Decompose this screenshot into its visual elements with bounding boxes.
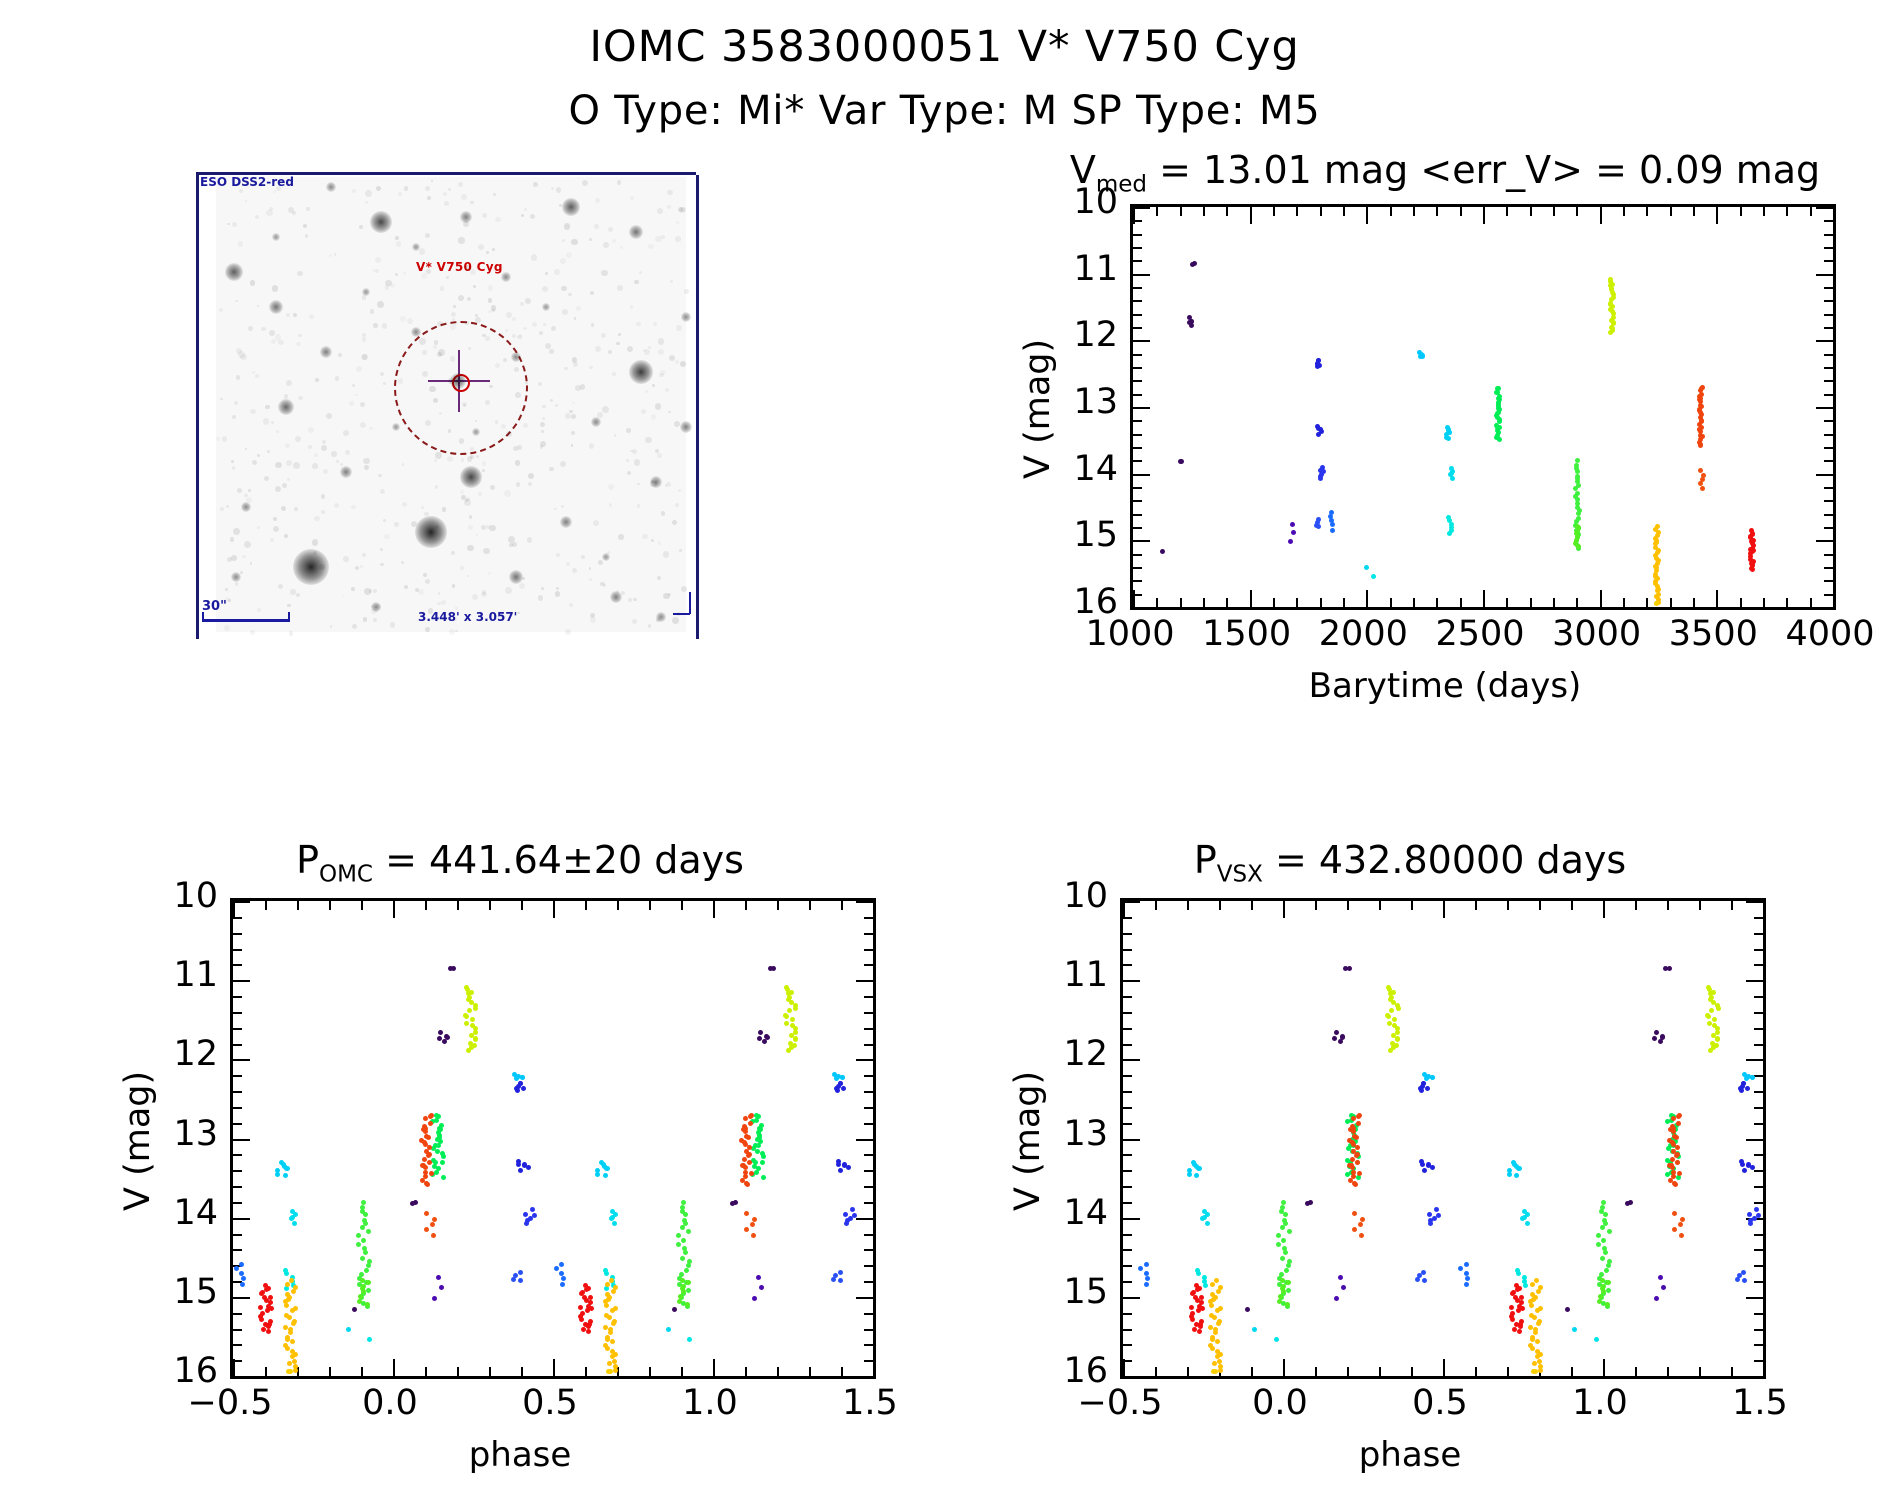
sky-noise-speckle	[667, 205, 670, 208]
axis-tick	[1824, 594, 1833, 596]
data-point	[1356, 1114, 1361, 1119]
axis-tick	[233, 980, 250, 982]
axis-tick	[233, 1249, 242, 1251]
sky-noise-speckle	[590, 617, 596, 623]
sky-noise-speckle	[565, 413, 571, 419]
data-point	[838, 1168, 843, 1173]
data-point	[1679, 1233, 1684, 1238]
sky-noise-speckle	[513, 446, 518, 451]
sky-noise-speckle	[342, 595, 344, 597]
data-point	[1510, 1317, 1515, 1322]
sky-noise-speckle	[576, 306, 580, 310]
axis-tick	[649, 1367, 651, 1376]
axis-tick	[1443, 901, 1445, 918]
data-point	[751, 1233, 756, 1238]
data-point	[234, 1266, 239, 1271]
sky-noise-speckle	[598, 560, 603, 565]
phase-omc-panel[interactable]: POMC = 441.64±20 days V (mag) phase 1011…	[120, 838, 920, 1458]
axis-tick	[1436, 598, 1438, 607]
sky-noise-speckle	[589, 567, 592, 570]
lightcurve-title-rest: = 13.01 mag <err_V> = 0.09 mag	[1147, 148, 1820, 192]
axis-tick	[777, 1367, 779, 1376]
axis-tick	[1754, 1186, 1763, 1188]
data-point	[1607, 1229, 1612, 1234]
sky-noise-speckle	[230, 537, 234, 541]
sky-noise-speckle	[404, 585, 408, 589]
sky-noise-speckle	[473, 285, 476, 288]
sky-noise-speckle	[419, 338, 426, 345]
sky-noise-speckle	[532, 322, 537, 327]
sky-noise-speckle	[470, 269, 476, 275]
axis-tick	[1251, 901, 1253, 910]
sky-noise-speckle	[590, 291, 594, 295]
data-point	[604, 1303, 609, 1308]
axis-tick	[1123, 1139, 1140, 1141]
data-point	[363, 1212, 368, 1217]
data-point	[515, 1088, 520, 1093]
data-point	[836, 1162, 841, 1167]
data-point	[1276, 1233, 1281, 1238]
data-point	[1604, 1268, 1609, 1273]
data-point	[838, 1270, 843, 1275]
axis-tick	[1506, 207, 1508, 216]
sky-noise-speckle	[568, 293, 572, 297]
axis-tick	[1746, 1297, 1763, 1299]
axis-tick	[1133, 527, 1142, 529]
axis-tick	[1133, 207, 1150, 209]
sky-noise-speckle	[351, 587, 355, 591]
axis-tick	[1754, 1249, 1763, 1251]
sky-noise-speckle	[360, 422, 366, 428]
sky-noise-speckle	[522, 577, 525, 580]
sky-noise-speckle	[678, 489, 681, 492]
data-point	[747, 1160, 752, 1165]
data-point	[1211, 1369, 1216, 1374]
axis-tick	[1390, 207, 1392, 216]
sky-noise-speckle	[334, 253, 337, 256]
axis-tick	[1390, 598, 1392, 607]
axis-tick	[1133, 594, 1142, 596]
data-point	[1672, 1211, 1677, 1216]
data-point	[1530, 1282, 1535, 1287]
axis-tick	[1133, 540, 1150, 542]
data-point	[686, 1280, 691, 1285]
sky-noise-speckle	[444, 201, 449, 206]
axis-tick	[1754, 1360, 1763, 1362]
axis-tick	[1754, 1234, 1763, 1236]
data-point	[1364, 565, 1369, 570]
axis-tick	[1623, 207, 1625, 216]
sky-noise-speckle	[478, 244, 484, 250]
data-point	[1421, 1270, 1426, 1275]
data-point	[1742, 1278, 1747, 1283]
sky-star	[501, 272, 511, 282]
sky-noise-speckle	[219, 308, 223, 312]
sky-noise-speckle	[287, 604, 290, 607]
data-point	[365, 1302, 370, 1307]
sky-noise-speckle	[556, 553, 560, 557]
y-tick-label: 13	[160, 1114, 218, 1154]
sky-noise-speckle	[369, 427, 373, 431]
sky-noise-speckle	[321, 494, 326, 499]
data-point	[683, 1212, 688, 1217]
data-point	[1538, 1368, 1543, 1373]
data-point	[1516, 1308, 1521, 1313]
axis-tick	[425, 1367, 427, 1376]
sky-noise-speckle	[676, 325, 682, 331]
sky-noise-speckle	[321, 510, 325, 514]
sky-noise-speckle	[582, 180, 588, 186]
axis-tick	[1716, 207, 1718, 224]
data-point	[683, 1250, 688, 1255]
axis-tick	[1786, 207, 1788, 216]
data-point	[1388, 1048, 1393, 1053]
data-point	[284, 1303, 289, 1308]
sky-noise-speckle	[483, 548, 490, 555]
data-point	[439, 1285, 444, 1290]
axis-tick	[1816, 274, 1833, 276]
data-point	[464, 1014, 469, 1019]
sky-noise-speckle	[653, 322, 657, 326]
sky-noise-speckle	[531, 254, 538, 261]
data-point	[1712, 1017, 1717, 1022]
sky-noise-speckle	[425, 579, 430, 584]
data-point	[1665, 1119, 1670, 1124]
axis-tick	[585, 1367, 587, 1376]
sky-noise-speckle	[236, 375, 241, 380]
data-point	[1308, 1200, 1313, 1205]
sky-noise-speckle	[362, 354, 367, 359]
sky-noise-speckle	[589, 578, 592, 581]
y-tick-label: 12	[1060, 315, 1118, 355]
data-point	[1144, 1282, 1149, 1287]
sky-noise-speckle	[556, 587, 559, 590]
sky-noise-speckle	[639, 271, 642, 274]
sky-image-panel[interactable]: ESO DSS2-red V* V750 Cyg 30" 3.448' x 3.…	[196, 172, 696, 639]
sky-noise-speckle	[556, 187, 562, 193]
axis-tick	[1133, 394, 1142, 396]
sky-noise-speckle	[617, 285, 623, 291]
data-point	[1418, 354, 1423, 359]
axis-tick	[1123, 1297, 1140, 1299]
axis-tick	[553, 901, 555, 918]
axis-tick	[713, 901, 715, 918]
axis-tick	[1123, 1123, 1132, 1125]
data-point	[427, 1160, 432, 1165]
sky-noise-speckle	[574, 317, 577, 320]
sky-noise-speckle	[373, 618, 377, 622]
axis-tick	[864, 1186, 873, 1188]
axis-tick	[233, 1218, 250, 1220]
sky-noise-speckle	[589, 238, 592, 241]
phase-vsx-panel[interactable]: PVSX = 432.80000 days V (mag) phase 1011…	[1010, 838, 1810, 1458]
sky-noise-speckle	[543, 323, 546, 326]
sky-noise-speckle	[385, 285, 390, 290]
sky-noise-speckle	[400, 316, 407, 323]
data-point	[1345, 1172, 1350, 1177]
sky-noise-speckle	[403, 272, 406, 275]
sky-noise-speckle	[446, 276, 449, 279]
axis-tick	[233, 1012, 242, 1014]
sky-noise-speckle	[308, 427, 314, 433]
data-point	[1750, 1075, 1755, 1080]
x-tick-label: 1.5	[1690, 1383, 1830, 1423]
data-point	[473, 1030, 478, 1035]
data-point	[1654, 1030, 1659, 1035]
data-point	[759, 1285, 764, 1290]
data-point	[752, 1296, 757, 1301]
axis-tick	[1603, 1359, 1605, 1376]
data-point	[511, 1277, 516, 1282]
sky-noise-speckle	[672, 520, 678, 526]
axis-tick	[233, 1186, 242, 1188]
sky-noise-speckle	[614, 434, 617, 437]
axis-tick	[1833, 590, 1835, 607]
axis-tick	[1483, 207, 1485, 224]
y-tick-label: 12	[160, 1034, 218, 1074]
sky-noise-speckle	[569, 603, 573, 607]
axis-tick	[1824, 567, 1833, 569]
sky-noise-speckle	[512, 334, 516, 338]
x-tick-label: 4000	[1760, 614, 1889, 654]
data-point	[284, 1286, 289, 1291]
sky-image-canvas[interactable]: ESO DSS2-red V* V750 Cyg 30" 3.448' x 3.…	[216, 177, 686, 632]
axis-tick	[1824, 394, 1833, 396]
data-point	[1507, 1172, 1512, 1177]
axis-tick	[1460, 598, 1462, 607]
sky-noise-speckle	[597, 412, 603, 418]
sky-noise-speckle	[566, 562, 570, 566]
sky-noise-speckle	[616, 342, 619, 345]
sky-noise-speckle	[504, 490, 510, 496]
phase-omc-y-axis-label: V (mag)	[118, 1070, 158, 1210]
sky-noise-speckle	[461, 458, 464, 461]
axis-tick	[864, 949, 873, 951]
sky-noise-speckle	[343, 430, 349, 436]
sky-noise-speckle	[453, 305, 456, 308]
data-point	[1434, 1207, 1439, 1212]
sky-noise-speckle	[469, 515, 473, 519]
axis-tick	[1824, 460, 1833, 462]
data-point	[680, 1256, 685, 1261]
data-point	[1673, 1182, 1678, 1187]
sky-noise-speckle	[472, 594, 478, 600]
sky-noise-speckle	[330, 625, 333, 628]
sky-noise-speckle	[657, 576, 661, 580]
sky-noise-speckle	[540, 441, 546, 447]
sky-noise-speckle	[373, 323, 377, 327]
sky-noise-speckle	[384, 534, 389, 539]
phase-omc-axes[interactable]	[230, 898, 876, 1379]
sky-noise-speckle	[278, 340, 284, 346]
data-point	[1316, 432, 1321, 437]
data-point	[612, 1221, 617, 1226]
sky-noise-speckle	[231, 460, 234, 463]
sky-star	[560, 516, 572, 528]
axis-tick	[681, 901, 683, 910]
sky-noise-speckle	[641, 409, 646, 414]
sky-noise-speckle	[360, 565, 363, 568]
data-point	[685, 1302, 690, 1307]
sky-noise-speckle	[232, 415, 236, 419]
sky-noise-speckle	[467, 297, 471, 301]
sky-noise-speckle	[616, 590, 619, 593]
axis-tick	[1553, 598, 1555, 607]
axis-tick	[297, 901, 299, 910]
phase-vsx-axes[interactable]	[1120, 898, 1766, 1379]
data-point	[1601, 1238, 1606, 1243]
lightcurve-panel[interactable]: Vmed = 13.01 mag <err_V> = 0.09 mag V (m…	[1020, 148, 1870, 668]
sky-noise-speckle	[364, 465, 369, 470]
axis-tick	[1315, 901, 1317, 910]
data-point	[1716, 1006, 1721, 1011]
data-point	[366, 1288, 371, 1293]
data-point	[1338, 1039, 1343, 1044]
data-point	[1465, 1276, 1470, 1281]
axis-tick	[864, 1281, 873, 1283]
sky-noise-speckle	[475, 317, 481, 323]
axis-tick	[1824, 220, 1833, 222]
axis-tick	[233, 1091, 242, 1093]
data-point	[424, 1211, 429, 1216]
data-point	[752, 1217, 757, 1222]
sky-noise-speckle	[657, 208, 663, 214]
axis-tick	[1754, 1028, 1763, 1030]
data-point	[266, 1324, 271, 1329]
y-tick-label: 14	[160, 1193, 218, 1233]
sky-noise-speckle	[448, 188, 451, 191]
axis-tick	[1133, 554, 1142, 556]
data-point	[1187, 1172, 1192, 1177]
axis-tick	[1226, 598, 1228, 607]
x-tick-label: 1.0	[1530, 1383, 1670, 1423]
axis-tick	[745, 1367, 747, 1376]
sky-noise-speckle	[525, 298, 531, 304]
axis-tick	[1123, 917, 1132, 919]
y-tick-label: 15	[1050, 1272, 1108, 1312]
data-point	[464, 1021, 469, 1026]
lightcurve-axes[interactable]	[1130, 204, 1836, 610]
axis-tick	[1507, 1367, 1509, 1376]
data-point	[426, 1135, 431, 1140]
axis-tick	[233, 1028, 242, 1030]
sky-noise-speckle	[661, 235, 665, 239]
sky-noise-speckle	[591, 323, 595, 327]
data-point	[361, 1238, 366, 1243]
data-point	[1715, 1030, 1720, 1035]
axis-tick	[1667, 1367, 1669, 1376]
axis-tick	[1754, 1265, 1763, 1267]
sky-noise-speckle	[506, 431, 512, 437]
data-point	[1532, 1361, 1537, 1366]
sky-noise-speckle	[603, 584, 606, 587]
sky-noise-speckle	[555, 591, 561, 597]
sky-noise-speckle	[651, 414, 657, 420]
sky-noise-speckle	[394, 522, 399, 527]
axis-tick	[1699, 1367, 1701, 1376]
sky-star	[278, 399, 294, 415]
data-point	[266, 1329, 271, 1334]
data-point	[585, 1308, 590, 1313]
axis-tick	[864, 1107, 873, 1109]
data-point	[1415, 1277, 1420, 1282]
axis-tick	[1763, 598, 1765, 607]
sky-noise-speckle	[540, 422, 546, 428]
sky-noise-speckle	[295, 436, 301, 442]
data-point	[526, 1165, 531, 1170]
axis-tick	[1824, 434, 1833, 436]
axis-tick	[1123, 1313, 1132, 1315]
axis-tick	[1824, 234, 1833, 236]
sky-noise-speckle	[627, 346, 633, 352]
lightcurve-x-axis-label: Barytime (days)	[1020, 666, 1870, 706]
data-point	[290, 1339, 295, 1344]
axis-tick	[521, 1367, 523, 1376]
data-point	[1677, 1171, 1682, 1176]
sky-noise-speckle	[566, 252, 572, 258]
sky-noise-speckle	[542, 417, 545, 420]
axis-tick	[1754, 1075, 1763, 1077]
sky-noise-speckle	[608, 484, 614, 490]
axis-tick	[233, 917, 242, 919]
axis-tick	[1273, 598, 1275, 607]
axis-tick	[1155, 901, 1157, 910]
sky-star	[269, 300, 283, 314]
axis-tick	[1824, 514, 1833, 516]
axis-tick	[1816, 407, 1833, 409]
data-point	[1750, 567, 1755, 572]
sky-noise-speckle	[626, 428, 631, 433]
sky-noise-speckle	[228, 599, 231, 602]
data-point	[1285, 1302, 1290, 1307]
data-point	[1277, 1299, 1282, 1304]
sky-noise-speckle	[489, 385, 492, 388]
data-point	[1535, 1308, 1540, 1313]
data-point	[356, 1242, 361, 1247]
phase-omc-title-rest: = 441.64±20 days	[373, 838, 744, 882]
sky-noise-speckle	[541, 430, 544, 433]
data-point	[367, 1337, 372, 1342]
data-point	[1209, 1303, 1214, 1308]
data-point	[361, 1200, 366, 1205]
phase-vsx-title-prefix: P	[1194, 838, 1217, 882]
data-point	[1745, 1086, 1750, 1091]
data-point	[1196, 1308, 1201, 1313]
sky-noise-speckle	[335, 376, 340, 381]
sky-noise-speckle	[571, 431, 574, 434]
data-point	[607, 1361, 612, 1366]
axis-tick	[864, 1044, 873, 1046]
sky-noise-speckle	[363, 458, 369, 464]
sky-noise-speckle	[437, 602, 440, 605]
sky-noise-speckle	[390, 622, 396, 628]
axis-tick	[841, 901, 843, 910]
data-point	[428, 1114, 433, 1119]
data-point	[578, 1305, 583, 1310]
sky-noise-speckle	[658, 541, 662, 545]
axis-tick	[233, 901, 235, 918]
data-point	[605, 1282, 610, 1287]
data-point	[1565, 1307, 1570, 1312]
sky-noise-speckle	[362, 553, 366, 557]
axis-tick	[1816, 207, 1833, 209]
sky-noise-speckle	[515, 460, 520, 465]
sky-noise-speckle	[561, 505, 564, 508]
sky-noise-speckle	[263, 418, 270, 425]
data-point	[1525, 1221, 1530, 1226]
sky-noise-speckle	[334, 503, 339, 508]
data-point	[1676, 1114, 1681, 1119]
